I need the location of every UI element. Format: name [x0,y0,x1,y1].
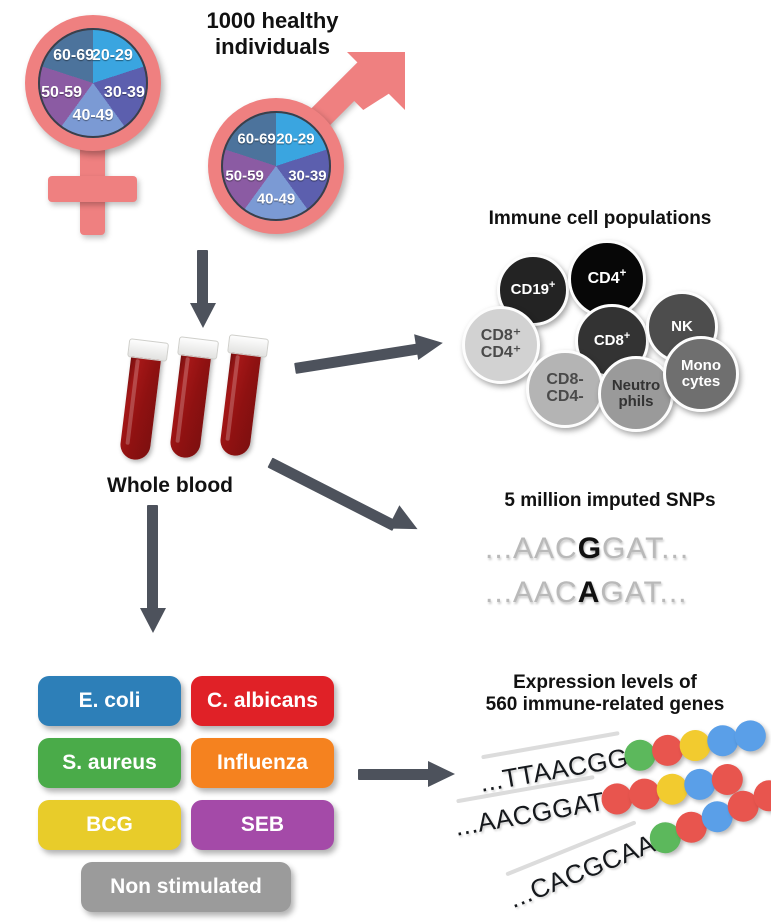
snp-sequence-row: ...AACGGAT... [485,532,689,566]
snp-section-title: 5 million imputed SNPs [450,490,770,512]
snp-variant-base: G [578,532,602,565]
stimulation-label: BCG [86,813,133,837]
immune-cell-label: CD4+ [588,271,627,288]
immune-cell-label: NK [671,319,693,335]
arrow-head [428,761,455,787]
immune-cell-label: CD8+ [594,333,630,349]
strand-sequence-text: ...AACGGAT [452,786,607,843]
stimulation-influenza[interactable]: Influenza [191,738,334,788]
stimulation-label: S. aureus [62,751,157,775]
stimulation-e-coli[interactable]: E. coli [38,676,181,726]
immune-cell-monocytes: Monocytes [663,336,739,412]
immune-cell-population-cluster: CD19+CD4+CD8⁺CD4⁺CD8+NKCD8-CD4-Neutrophi… [0,0,771,450]
snp-sequence-suffix: GAT... [602,532,689,565]
expression-title-line-2: 560 immune-related genes [440,694,770,716]
stimulation-c-albicans[interactable]: C. albicans [191,676,334,726]
immune-cell-label: Neutrophils [612,378,660,409]
arrow-stimulation-to-expression [358,758,468,792]
stimulation-label: Influenza [217,751,308,775]
arrow-head [140,608,166,633]
immune-cell-label: CD8-CD4- [546,372,583,405]
immune-cell-cd8-cd4-: CD8⁺CD4⁺ [462,306,540,384]
arrow-blood-to-snp [270,455,460,555]
stimulation-bcg[interactable]: BCG [38,800,181,850]
snp-sequence-block: ...AACGGAT......AACAGAT... [485,532,745,622]
whole-blood-label: Whole blood [80,474,260,499]
snp-sequence-prefix: ...AAC [485,532,578,565]
snp-sequence-suffix: GAT... [600,576,687,609]
snp-sequence-row: ...AACAGAT... [485,576,688,610]
stimulation-non-stimulated[interactable]: Non stimulated [81,862,291,912]
immune-cell-label: Monocytes [681,358,721,389]
snp-variant-base: A [578,576,601,609]
gene-expression-strands: ...TTAACGG...AACGGAT...CACGCAA [455,740,771,915]
arrow-head [388,505,424,540]
snp-sequence-prefix: ...AAC [485,576,578,609]
stimulation-label: E. coli [79,689,141,713]
stimulation-seb[interactable]: SEB [191,800,334,850]
arrow-shaft [147,505,158,610]
stimulation-label: Non stimulated [110,875,262,899]
stimulation-conditions-grid: E. coliC. albicansS. aureusInfluenzaBCGS… [38,676,338,896]
stimulation-label: SEB [241,813,284,837]
arrow-blood-to-stimulation [140,505,170,645]
arrow-shaft [358,769,430,780]
expression-title-line-1: Expression levels of [440,672,770,694]
figure-canvas: 1000 healthy individuals 20-2930-3940-49… [0,0,771,922]
arrow-shaft [268,458,398,531]
immune-cell-label: CD19+ [511,282,556,298]
immune-cell-label: CD8⁺CD4⁺ [481,328,521,361]
immune-cell-cd8-cd4-: CD8-CD4- [526,350,604,428]
expression-bead [733,718,769,754]
expression-section-title: Expression levels of 560 immune-related … [440,672,770,717]
stimulation-s-aureus[interactable]: S. aureus [38,738,181,788]
stimulation-label: C. albicans [207,689,318,713]
